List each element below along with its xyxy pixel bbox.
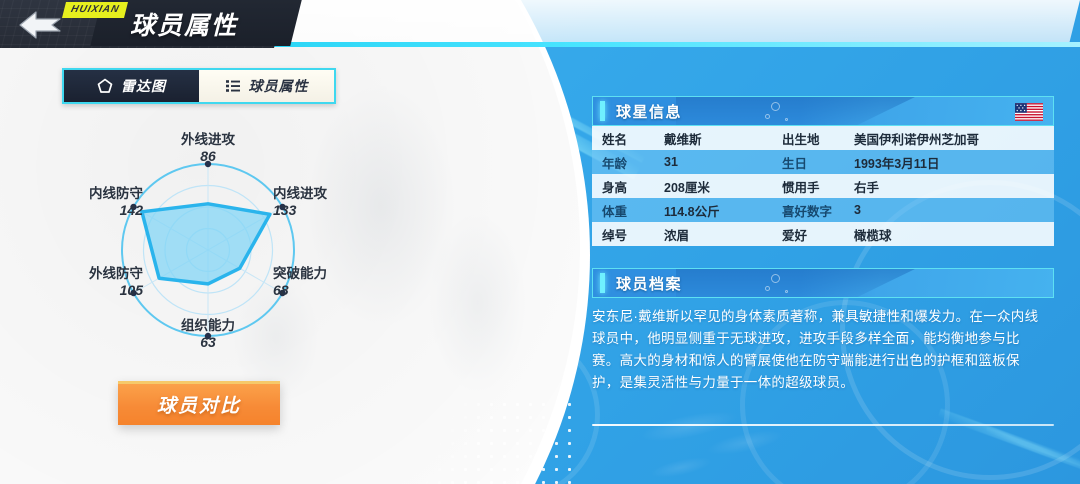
row-key-1: 体重 bbox=[592, 198, 654, 222]
table-row: 年龄31生日1993年3月11日 bbox=[592, 150, 1054, 174]
row-key-1: 绰号 bbox=[592, 222, 654, 246]
row-key-1: 年龄 bbox=[592, 150, 654, 174]
tab-player-attributes[interactable]: 球员属性 bbox=[199, 70, 334, 102]
star-info-header: 球星信息 bbox=[592, 96, 1054, 126]
row-key-2: 惯用手 bbox=[772, 174, 844, 198]
list-icon bbox=[225, 78, 241, 94]
row-value-2: 美国伊利诺伊州芝加哥 bbox=[844, 126, 1054, 150]
player-attributes-screen: HUIXIAN 球员属性 雷达图 球员属性 bbox=[0, 0, 1080, 484]
header-cyan-underline bbox=[235, 42, 1080, 47]
table-row: 姓名戴维斯出生地美国伊利诺伊州芝加哥 bbox=[592, 126, 1054, 150]
radar-data-polygon bbox=[142, 204, 270, 284]
row-value-1: 208厘米 bbox=[654, 174, 772, 198]
bubble-decoration bbox=[765, 286, 770, 291]
table-row: 绰号浓眉爱好橄榄球 bbox=[592, 222, 1054, 246]
row-key-1: 姓名 bbox=[592, 126, 654, 150]
radar-chart: 外线进攻 86 内线进攻 133 突破能力 68 组织能力 63 外线防守 10… bbox=[58, 128, 358, 373]
page-title: 球员属性 bbox=[130, 6, 238, 42]
view-mode-tabs: 雷达图 球员属性 bbox=[62, 68, 336, 104]
row-key-2: 喜好数字 bbox=[772, 198, 844, 222]
row-value-1: 114.8公斤 bbox=[654, 198, 772, 222]
row-value-1: 戴维斯 bbox=[654, 126, 772, 150]
row-value-2: 3 bbox=[844, 198, 1054, 222]
bottom-divider bbox=[592, 424, 1054, 426]
radar-axis-label-0: 外线进攻 86 bbox=[163, 132, 253, 164]
radar-axis-label-2: 突破能力 68 bbox=[273, 266, 358, 298]
bubble-decoration bbox=[785, 118, 788, 121]
bubble-decoration bbox=[765, 114, 770, 119]
brand-badge: HUIXIAN bbox=[62, 2, 128, 18]
bubble-decoration bbox=[771, 102, 780, 111]
back-arrow-icon bbox=[14, 8, 66, 42]
star-info-table: 姓名戴维斯出生地美国伊利诺伊州芝加哥年龄31生日1993年3月11日身高208厘… bbox=[592, 126, 1054, 246]
player-profile-title: 球员档案 bbox=[616, 273, 682, 294]
row-value-2: 右手 bbox=[844, 174, 1054, 198]
pentagon-icon bbox=[97, 78, 113, 94]
header-strip bbox=[229, 0, 1080, 44]
header-accent-bar bbox=[600, 101, 605, 121]
row-value-2: 橄榄球 bbox=[844, 222, 1054, 246]
star-info-title: 球星信息 bbox=[616, 101, 682, 122]
tab-radar-chart[interactable]: 雷达图 bbox=[64, 70, 199, 102]
tab-radar-chart-label: 雷达图 bbox=[121, 76, 166, 96]
bubble-decoration bbox=[785, 290, 788, 293]
player-profile-text: 安东尼·戴维斯以罕见的身体素质著称，兼具敏捷性和爆发力。在一众内线球员中，他明显… bbox=[592, 306, 1044, 393]
header-accent-bar bbox=[600, 273, 605, 293]
row-key-1: 身高 bbox=[592, 174, 654, 198]
player-profile-header: 球员档案 bbox=[592, 268, 1054, 298]
us-flag-icon bbox=[1015, 103, 1043, 121]
player-compare-button[interactable]: 球员对比 bbox=[118, 381, 280, 425]
bubble-decoration bbox=[771, 274, 780, 283]
table-row: 身高208厘米惯用手右手 bbox=[592, 174, 1054, 198]
radar-axis-label-3: 组织能力 63 bbox=[163, 318, 253, 350]
radar-axis-label-4: 外线防守 105 bbox=[58, 266, 143, 298]
light-streak-decoration bbox=[985, 427, 1080, 473]
star-info-card: 球星信息 bbox=[592, 96, 1054, 246]
back-button[interactable] bbox=[14, 8, 66, 42]
table-row: 体重114.8公斤喜好数字3 bbox=[592, 198, 1054, 222]
row-value-1: 浓眉 bbox=[654, 222, 772, 246]
row-key-2: 爱好 bbox=[772, 222, 844, 246]
light-streak-decoration bbox=[938, 408, 1080, 471]
tab-player-attributes-label: 球员属性 bbox=[249, 76, 309, 96]
radar-axis-label-1: 内线进攻 133 bbox=[273, 186, 358, 218]
row-key-2: 出生地 bbox=[772, 126, 844, 150]
radar-axis-label-5: 内线防守 142 bbox=[58, 186, 143, 218]
player-profile-card: 球员档案 安东尼·戴维斯以罕见的身体素质著称，兼具敏捷性和爆发力。在一众内线球员… bbox=[592, 268, 1054, 393]
row-value-2: 1993年3月11日 bbox=[844, 150, 1054, 174]
row-value-1: 31 bbox=[654, 150, 772, 174]
row-key-2: 生日 bbox=[772, 150, 844, 174]
